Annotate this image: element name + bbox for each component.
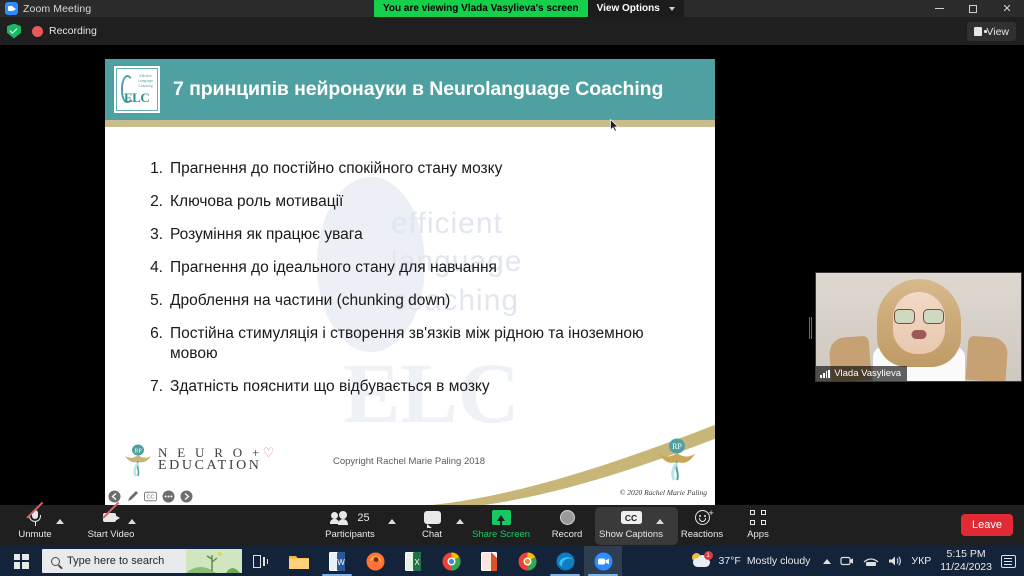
captions-chevron-icon[interactable] <box>656 519 664 524</box>
zoom-control-toolbar: Unmute Start Video 25 Participants <box>0 505 1024 546</box>
winged-caduceus-icon: RP <box>123 443 153 477</box>
video-options-chevron-icon[interactable] <box>128 519 136 524</box>
recording-bar: Recording View <box>0 17 1024 45</box>
start-video-label: Start Video <box>88 529 135 540</box>
slide-copyright-center: Copyright Rachel Marie Paling 2018 <box>333 456 485 467</box>
closed-caption-icon[interactable]: CC <box>144 490 157 503</box>
participants-count: 25 <box>357 512 369 524</box>
search-input[interactable]: Type here to search <box>42 549 242 573</box>
view-options-button[interactable]: View Options <box>588 0 684 17</box>
list-item-number: 4. <box>140 258 170 278</box>
slide-title: 7 принципів нейронауки в Neurolanguage C… <box>173 78 663 101</box>
recording-status-label: Recording <box>49 25 97 37</box>
svg-text:X: X <box>414 558 420 567</box>
participants-chevron-icon[interactable] <box>388 519 396 524</box>
view-button-label: View <box>986 26 1009 38</box>
unmute-button[interactable]: Unmute <box>14 508 56 544</box>
list-item-number: 6. <box>140 324 170 365</box>
list-item-text: Постійна стимуляція і створення зв'язків… <box>170 324 685 365</box>
elc-wordmark: ELC <box>124 90 149 106</box>
weather-description: Mostly cloudy <box>747 555 811 567</box>
weather-widget[interactable]: 1 37°F Mostly cloudy <box>691 552 811 570</box>
participant-name-label: Vlada Vasylieva <box>834 368 901 379</box>
leave-button[interactable]: Leave <box>961 514 1013 536</box>
reactions-button[interactable]: + Reactions <box>676 508 728 544</box>
taskbar-app-zoom[interactable] <box>584 546 622 576</box>
close-button[interactable]: ✕ <box>990 0 1024 17</box>
taskbar-app-file-explorer[interactable] <box>280 546 318 576</box>
list-item-number: 5. <box>140 291 170 311</box>
record-circle-icon <box>560 510 575 525</box>
svg-text:W: W <box>337 558 345 567</box>
zoom-meeting-window: Zoom Meeting You are viewing Vlada Vasyl… <box>0 0 1024 576</box>
slide-principles-list: 1. Прагнення до постійно спокійного стан… <box>140 159 685 410</box>
list-item-text: Прагнення до постійно спокійного стану м… <box>170 159 685 179</box>
forward-arrow-icon[interactable] <box>180 490 193 503</box>
list-item: 1. Прагнення до постійно спокійного стан… <box>140 159 685 179</box>
list-item: 4. Прагнення до ідеального стану для нав… <box>140 258 685 278</box>
network-icon[interactable] <box>863 555 879 567</box>
taskbar-app-chrome[interactable] <box>432 546 470 576</box>
slide-copyright-right: © 2020 Rachel Marie Paling <box>620 488 707 497</box>
chat-chevron-icon[interactable] <box>456 519 464 524</box>
sun-cloud-icon: 1 <box>691 552 713 570</box>
clock-time: 5:15 PM <box>947 548 986 561</box>
slide-header: Efficient Language Coaching ELC 7 принци… <box>105 59 715 120</box>
list-item-text: Прагнення до ідеального стану для навчан… <box>170 258 685 278</box>
record-button[interactable]: Record <box>545 508 589 544</box>
notifications-icon[interactable] <box>1001 555 1016 568</box>
record-dot-icon <box>32 26 43 37</box>
shield-check-icon[interactable] <box>7 24 21 39</box>
weather-temp: 37°F <box>719 555 741 567</box>
leave-label: Leave <box>972 519 1002 531</box>
chat-label: Chat <box>422 529 442 540</box>
participant-video-thumbnail[interactable]: Vlada Vasylieva <box>815 272 1022 382</box>
share-screen-button[interactable]: Share Screen <box>470 508 532 544</box>
start-video-button[interactable]: Start Video <box>84 508 138 544</box>
chat-button[interactable]: Chat <box>415 508 449 544</box>
chat-bubble-icon <box>424 511 441 524</box>
elc-sub-line-2: Language <box>138 79 153 84</box>
elc-logo-icon: Efficient Language Coaching ELC <box>112 64 162 115</box>
task-view-button[interactable] <box>242 546 280 576</box>
chevron-down-icon <box>669 7 675 11</box>
list-item: 5. Дроблення на частини (chunking down) <box>140 291 685 311</box>
list-item-text: Ключова роль мотивації <box>170 192 685 212</box>
list-item-number: 3. <box>140 225 170 245</box>
apps-label: Apps <box>747 529 769 540</box>
more-options-icon[interactable] <box>162 490 175 503</box>
audio-options-chevron-icon[interactable] <box>56 519 64 524</box>
search-decoration <box>186 549 242 573</box>
share-screen-label: Share Screen <box>472 529 530 540</box>
apps-button[interactable]: Apps <box>740 508 776 544</box>
reactions-smiley-icon: + <box>695 510 710 525</box>
pen-icon[interactable] <box>126 490 139 503</box>
slide-annotation-toolbar: CC <box>108 490 193 503</box>
presentation-slide[interactable]: Efficient Language Coaching ELC 7 принци… <box>105 59 715 505</box>
list-item-number: 2. <box>140 192 170 212</box>
apps-grid-icon <box>750 510 766 525</box>
camera-off-icon <box>102 508 121 527</box>
view-options-label: View Options <box>597 3 660 14</box>
taskbar-app-edge[interactable] <box>546 546 584 576</box>
clock-date: 11/24/2023 <box>940 561 992 574</box>
windows-taskbar: Type here to search W X <box>0 546 1024 576</box>
participants-icon <box>330 511 354 525</box>
sharing-status-label: You are viewing Vlada Vasylieva's screen <box>374 0 588 17</box>
elc-sub-line-3: Coaching <box>138 84 153 89</box>
unmute-label: Unmute <box>18 529 51 540</box>
clock[interactable]: 5:15 PM 11/24/2023 <box>940 548 992 574</box>
back-arrow-icon[interactable] <box>108 490 121 503</box>
list-item: 2. Ключова роль мотивації <box>140 192 685 212</box>
reactions-label: Reactions <box>681 529 723 540</box>
list-item-number: 7. <box>140 377 170 397</box>
shared-screen-stage: Efficient Language Coaching ELC 7 принци… <box>0 45 1024 505</box>
chevron-up-icon[interactable] <box>823 559 831 564</box>
participants-button[interactable]: 25 Participants <box>322 508 378 544</box>
list-item: 7. Здатність пояснити що відбувається в … <box>140 377 685 397</box>
signal-bars-icon <box>820 370 830 378</box>
windows-start-icon <box>14 554 29 569</box>
restore-button[interactable] <box>956 0 990 17</box>
taskbar-app-chrome-profile[interactable] <box>508 546 546 576</box>
camera-tray-icon[interactable] <box>840 555 854 567</box>
mouse-cursor <box>610 119 619 132</box>
task-view-icon <box>253 555 269 568</box>
title-bar: Zoom Meeting You are viewing Vlada Vasyl… <box>0 0 1024 17</box>
closed-caption-icon: CC <box>621 511 642 524</box>
participants-label: Participants <box>325 529 375 540</box>
slide-gold-divider <box>105 120 715 127</box>
svg-text:CC: CC <box>146 495 154 501</box>
microphone-muted-icon <box>26 508 45 527</box>
list-item-number: 1. <box>140 159 170 179</box>
list-item: 6. Постійна стимуляція і створення зв'яз… <box>140 324 685 365</box>
taskbar-app-pdf[interactable] <box>470 546 508 576</box>
show-captions-button[interactable]: CC Show Captions <box>600 508 662 544</box>
heart-icon: ♡ <box>263 445 278 460</box>
search-placeholder: Type here to search <box>67 555 164 567</box>
minimize-button[interactable] <box>922 0 956 17</box>
weather-badge: 1 <box>704 551 713 560</box>
system-tray: 1 37°F Mostly cloudy УКР 5:15 PM 11/24/2… <box>691 546 1024 576</box>
volume-icon[interactable] <box>888 555 902 567</box>
record-label: Record <box>552 529 583 540</box>
neuro-education-logo: RP N E U R O +♡ EDUCATION <box>123 443 278 477</box>
start-button[interactable] <box>0 546 42 576</box>
list-item-text: Розуміння як працює увага <box>170 225 685 245</box>
taskbar-app-firefox[interactable] <box>356 546 394 576</box>
participant-video-feed <box>816 273 1021 381</box>
window-controls: ✕ <box>922 0 1024 17</box>
taskbar-app-excel[interactable]: X <box>394 546 432 576</box>
show-captions-label: Show Captions <box>599 529 663 540</box>
screen-share-banner: You are viewing Vlada Vasylieva's screen… <box>374 0 684 17</box>
share-screen-icon <box>492 510 511 525</box>
svg-text:RP: RP <box>134 449 142 455</box>
window-title: Zoom Meeting <box>23 3 91 15</box>
taskbar-app-word[interactable]: W <box>318 546 356 576</box>
list-item-text: Здатність пояснити що відбувається в моз… <box>170 377 685 397</box>
svg-text:RP: RP <box>672 442 682 451</box>
layout-view-icon <box>974 27 982 36</box>
list-item-text: Дроблення на частини (chunking down) <box>170 291 685 311</box>
neuro-logo-line-2: EDUCATION <box>158 459 278 473</box>
list-item: 3. Розуміння як працює увага <box>140 225 685 245</box>
zoom-icon <box>5 2 18 15</box>
rp-winged-badge-icon: RP <box>657 437 697 481</box>
view-layout-button[interactable]: View <box>967 22 1016 41</box>
thumbnail-drag-handle[interactable] <box>809 317 813 339</box>
search-icon <box>51 557 60 566</box>
language-indicator[interactable]: УКР <box>911 555 931 567</box>
participant-name-badge: Vlada Vasylieva <box>816 366 907 381</box>
